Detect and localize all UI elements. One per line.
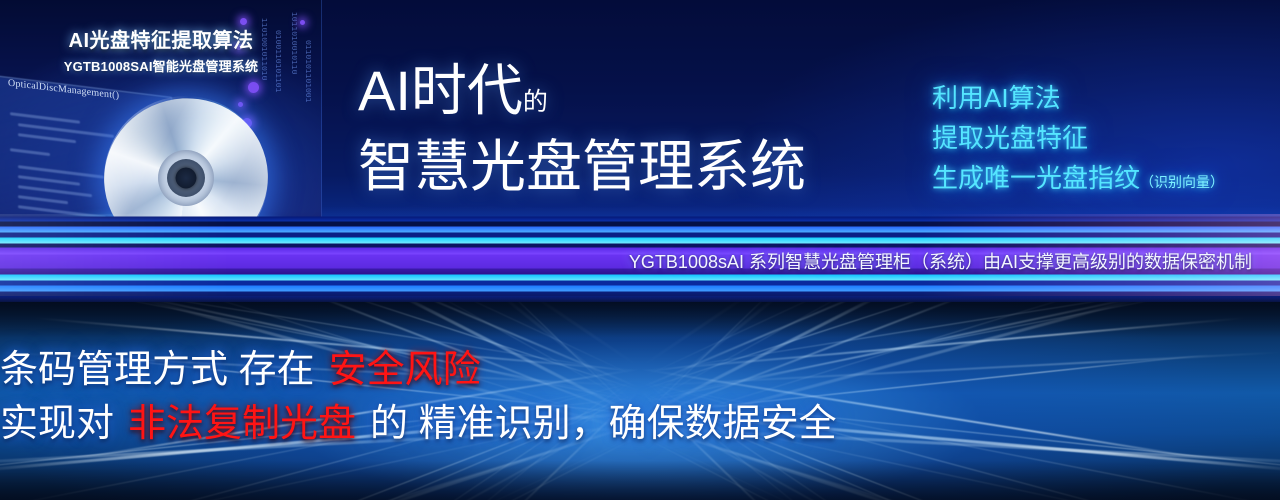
feature-item-1: 利用AI算法: [932, 78, 1280, 118]
panel-subtitle: YGTB1008SAI智能光盘管理系统: [0, 56, 322, 75]
bottom-line-2-b: 的 精准识别，确保数据安全: [370, 403, 837, 445]
bottom-line-2-a: 实现对: [0, 403, 114, 445]
headline-line-1-main: AI时代: [358, 59, 523, 122]
feature-list: 利用AI算法 提取光盘特征 生成唯一光盘指纹（识别向量）: [932, 78, 1280, 202]
headline-line-1-suffix: 的: [523, 88, 548, 116]
feature-item-1-text: 利用AI算法: [932, 83, 1061, 113]
bottom-line-1: 条码管理方式 存在安全风险: [0, 344, 481, 396]
feature-item-3: 生成唯一光盘指纹（识别向量）: [932, 158, 1280, 202]
feature-item-3-note: （识别向量）: [1140, 174, 1224, 190]
bottom-line-2-highlight: 非法复制光盘: [128, 403, 356, 445]
feature-item-3-text: 生成唯一光盘指纹: [932, 163, 1140, 193]
top-section: OpticalDiscManagement() 1101001011010 01…: [0, 0, 1280, 302]
glow-dot: [248, 82, 259, 93]
feature-item-2: 提取光盘特征: [932, 118, 1280, 158]
headline-block: AI时代的 智慧光盘管理系统: [358, 62, 918, 197]
bottom-section: 条码管理方式 存在安全风险 实现对非法复制光盘的 精准识别，确保数据安全: [0, 302, 1280, 500]
promo-banner: OpticalDiscManagement() 1101001011010 01…: [0, 0, 1280, 500]
bottom-line-1-a: 条码管理方式 存在: [0, 349, 315, 391]
headline-line-1: AI时代的: [358, 62, 918, 131]
bottom-line-1-highlight: 安全风险: [329, 349, 481, 391]
bottom-line-2: 实现对非法复制光盘的 精准识别，确保数据安全: [0, 398, 837, 450]
headline-line-2: 智慧光盘管理系统: [358, 137, 918, 197]
feature-item-2-text: 提取光盘特征: [932, 123, 1088, 153]
panel-title: AI光盘特征提取算法: [0, 24, 322, 53]
subtitle-text: YGTB1008sAI 系列智慧光盘管理柜（系统）由AI支撑更高级别的数据保密机…: [0, 248, 1280, 274]
